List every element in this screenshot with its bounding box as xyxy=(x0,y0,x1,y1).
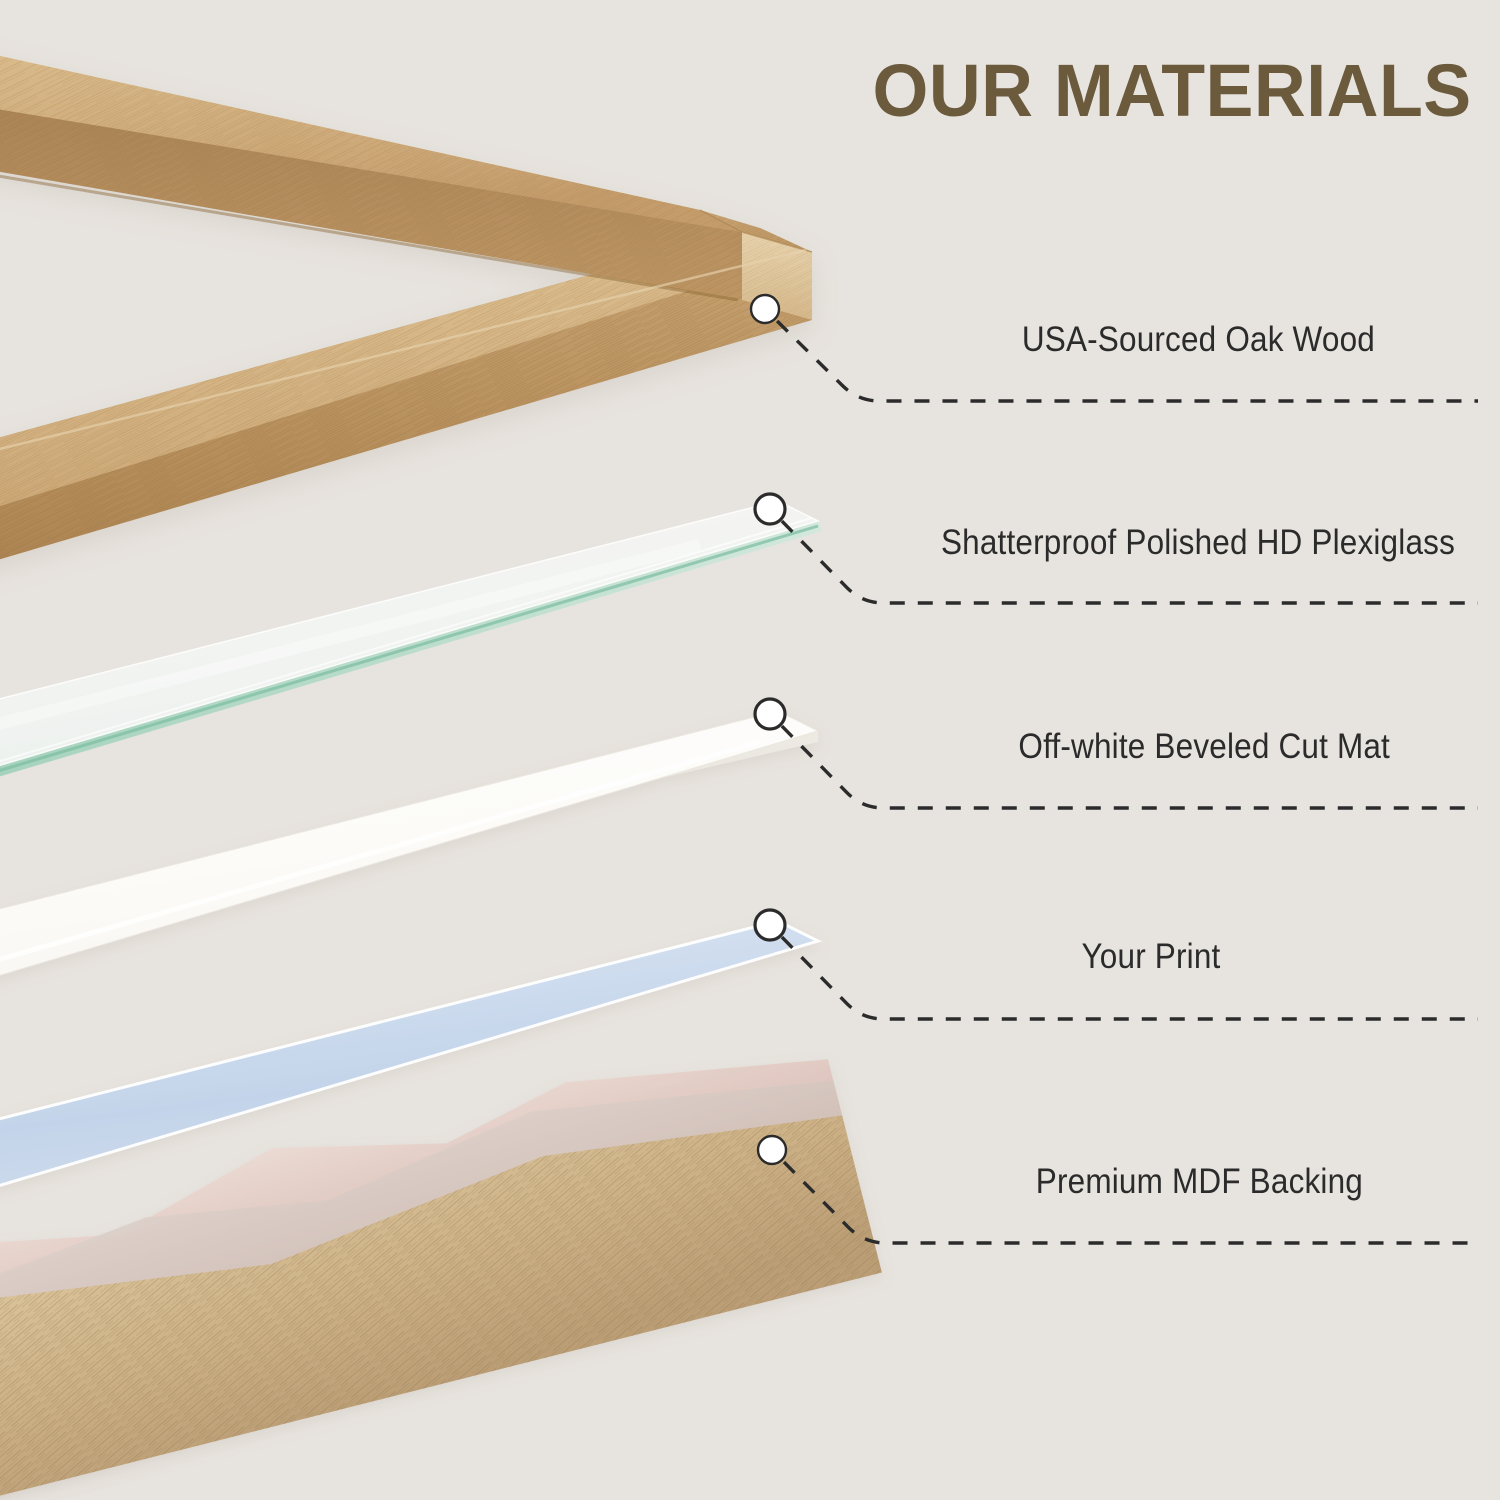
callout-marker-hollow-dot[interactable] xyxy=(755,494,785,524)
callout-label: Premium MDF Backing xyxy=(136,1162,1363,1202)
callout-label: Your Print xyxy=(1082,937,1221,977)
callout-label: Shatterproof Polished HD Plexiglass xyxy=(146,523,1456,563)
page-title: OUR MATERIALS xyxy=(873,48,1472,133)
callout-marker-filled-dot[interactable] xyxy=(751,295,779,323)
callout-leader-lines xyxy=(777,321,1478,1243)
callout-marker-filled-dot[interactable] xyxy=(758,1136,786,1164)
frame-rail-top xyxy=(0,0,742,300)
materials-infographic: OUR MATERIALS USA-Sourced Oak WoodShatte… xyxy=(0,0,1500,1500)
callout-label: Off-white Beveled Cut Mat xyxy=(139,727,1390,767)
layer-print-artwork xyxy=(0,921,882,1500)
callout-marker-hollow-dot[interactable] xyxy=(755,910,785,940)
callout-label: USA-Sourced Oak Wood xyxy=(138,320,1376,360)
callout-marker-hollow-dot[interactable] xyxy=(755,699,785,729)
